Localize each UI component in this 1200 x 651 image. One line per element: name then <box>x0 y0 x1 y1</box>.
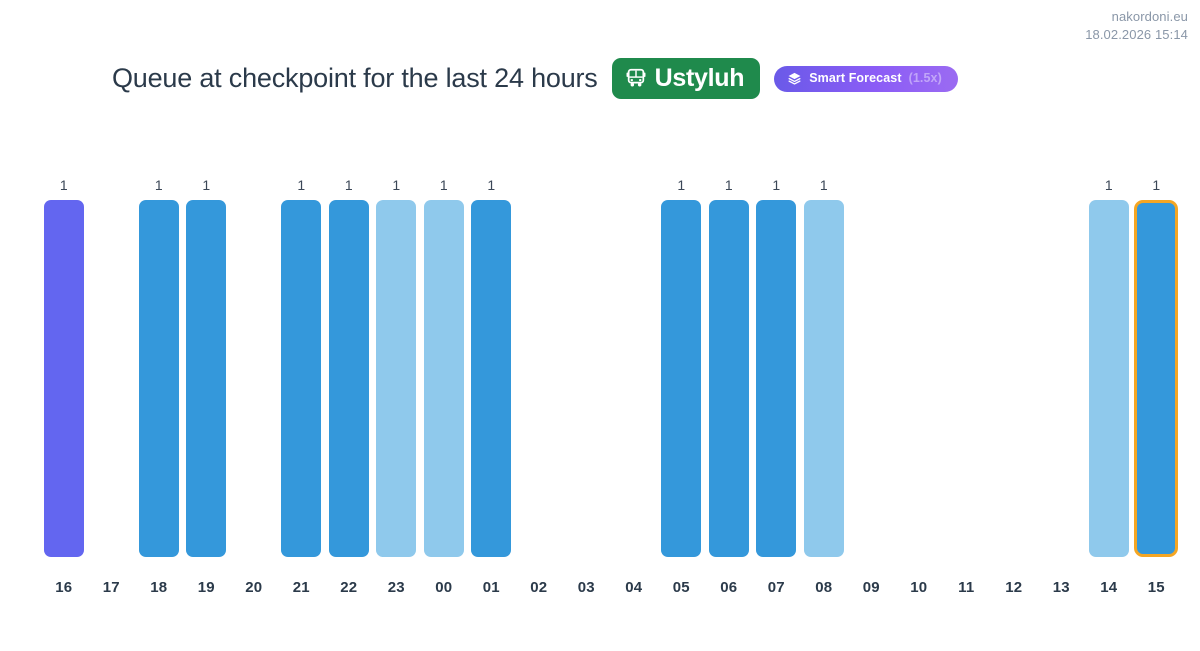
forecast-label: Smart Forecast <box>809 72 901 85</box>
bar-value-label: 1 <box>820 178 828 192</box>
bar-slot[interactable] <box>230 132 278 557</box>
bar-slot[interactable]: 1 <box>658 132 706 557</box>
x-axis-tick: 23 <box>373 579 421 596</box>
bar-value-label: 1 <box>155 178 163 192</box>
chart-page: nakordoni.eu 18.02.2026 15:14 Queue at c… <box>0 0 1200 651</box>
bar-slot[interactable] <box>1038 132 1086 557</box>
bar-slot[interactable] <box>563 132 611 557</box>
x-axis-tick: 17 <box>88 579 136 596</box>
station-name: Ustyluh <box>655 66 745 91</box>
bar[interactable] <box>44 200 84 557</box>
x-axis-tick: 12 <box>990 579 1038 596</box>
bar-slot[interactable] <box>88 132 136 557</box>
bar-value-label: 1 <box>772 178 780 192</box>
x-axis-tick: 14 <box>1085 579 1133 596</box>
bar-slot[interactable]: 1 <box>800 132 848 557</box>
x-axis-tick: 03 <box>563 579 611 596</box>
bar-value-label: 1 <box>677 178 685 192</box>
timestamp: 18.02.2026 15:14 <box>1085 26 1188 44</box>
bar[interactable] <box>376 200 416 557</box>
bar-value-label: 1 <box>440 178 448 192</box>
bar-slot[interactable] <box>895 132 943 557</box>
bar-slot[interactable] <box>848 132 896 557</box>
title-row: Queue at checkpoint for the last 24 hour… <box>112 58 1100 99</box>
x-axis-tick: 09 <box>848 579 896 596</box>
bar[interactable] <box>709 200 749 557</box>
x-axis-tick: 04 <box>610 579 658 596</box>
bar-value-label: 1 <box>487 178 495 192</box>
bar-slot[interactable]: 1 <box>40 132 88 557</box>
bar[interactable] <box>424 200 464 557</box>
x-axis-tick: 21 <box>278 579 326 596</box>
bar-slot[interactable]: 1 <box>183 132 231 557</box>
x-axis-tick: 22 <box>325 579 373 596</box>
x-axis-tick: 00 <box>420 579 468 596</box>
x-axis-tick: 02 <box>515 579 563 596</box>
bar-current-hour[interactable] <box>1134 200 1178 557</box>
x-axis-tick: 01 <box>468 579 516 596</box>
bar-value-label: 1 <box>297 178 305 192</box>
bar-slot[interactable]: 1 <box>1085 132 1133 557</box>
bar[interactable] <box>186 200 226 557</box>
bar-slot[interactable]: 1 <box>373 132 421 557</box>
x-axis-tick: 16 <box>40 579 88 596</box>
bar[interactable] <box>756 200 796 557</box>
x-axis-tick: 19 <box>183 579 231 596</box>
bar[interactable] <box>471 200 511 557</box>
x-axis-tick: 18 <box>135 579 183 596</box>
bar-slot[interactable]: 1 <box>420 132 468 557</box>
bar-slot[interactable]: 1 <box>468 132 516 557</box>
bar-value-label: 1 <box>725 178 733 192</box>
bar-slot[interactable]: 1 <box>135 132 183 557</box>
x-axis-tick: 20 <box>230 579 278 596</box>
bar-slot[interactable] <box>990 132 1038 557</box>
bar-value-label: 1 <box>1152 178 1160 192</box>
bar-slot[interactable] <box>610 132 658 557</box>
bar-slot[interactable] <box>943 132 991 557</box>
bar-slot[interactable]: 1 <box>1133 132 1181 557</box>
x-axis-tick: 11 <box>943 579 991 596</box>
page-title: Queue at checkpoint for the last 24 hour… <box>112 63 598 94</box>
bar[interactable] <box>1089 200 1129 557</box>
bar-value-label: 1 <box>392 178 400 192</box>
site-name: nakordoni.eu <box>1085 8 1188 26</box>
x-axis-tick: 08 <box>800 579 848 596</box>
bar-slot[interactable]: 1 <box>278 132 326 557</box>
bar-value-label: 1 <box>345 178 353 192</box>
bar[interactable] <box>139 200 179 557</box>
bar-value-label: 1 <box>202 178 210 192</box>
bar[interactable] <box>804 200 844 557</box>
station-badge[interactable]: Ustyluh <box>612 58 761 99</box>
bar-value-label: 1 <box>60 178 68 192</box>
bar[interactable] <box>329 200 369 557</box>
bars-container: 11111111111111 <box>40 132 1180 557</box>
bar-value-label: 1 <box>1105 178 1113 192</box>
bar-slot[interactable]: 1 <box>705 132 753 557</box>
x-axis-tick: 15 <box>1133 579 1181 596</box>
queue-bar-chart: 11111111111111 1617181920212223000102030… <box>40 132 1180 602</box>
bar[interactable] <box>281 200 321 557</box>
x-axis-tick: 07 <box>753 579 801 596</box>
x-axis: 1617181920212223000102030405060708091011… <box>40 579 1180 596</box>
x-axis-tick: 06 <box>705 579 753 596</box>
bar-slot[interactable]: 1 <box>753 132 801 557</box>
x-axis-tick: 10 <box>895 579 943 596</box>
bar-slot[interactable] <box>515 132 563 557</box>
layers-icon <box>787 71 802 86</box>
bar[interactable] <box>661 200 701 557</box>
bar-slot[interactable]: 1 <box>325 132 373 557</box>
forecast-multiplier: (1.5x) <box>909 72 942 85</box>
x-axis-tick: 13 <box>1038 579 1086 596</box>
bus-icon <box>625 67 647 89</box>
smart-forecast-badge[interactable]: Smart Forecast (1.5x) <box>774 66 958 92</box>
x-axis-tick: 05 <box>658 579 706 596</box>
page-meta: nakordoni.eu 18.02.2026 15:14 <box>1085 8 1188 43</box>
